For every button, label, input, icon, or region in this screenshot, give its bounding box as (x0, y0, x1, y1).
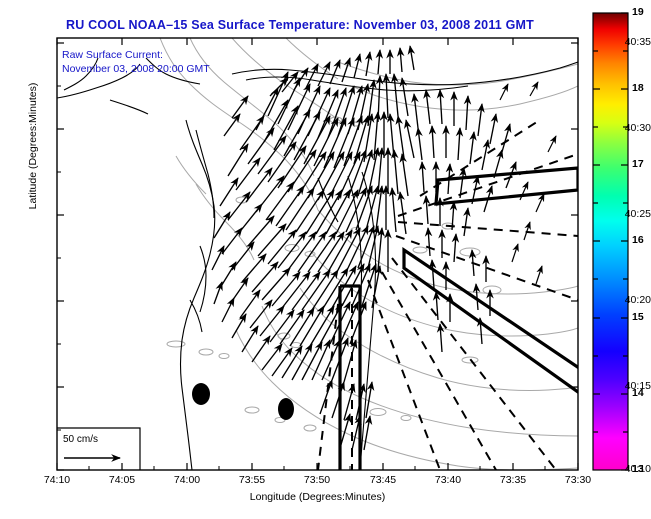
colorbar-tick-label-5: 14 (632, 387, 644, 399)
sst-figure: RU COOL NOAA–15 Sea Surface Temperature:… (0, 0, 651, 519)
x-tick-label-5: 73:45 (351, 474, 415, 486)
y-tick-label-0: 40:35 (599, 36, 651, 48)
colorbar-tick-label-4: 15 (632, 311, 644, 323)
x-tick-label-6: 73:40 (416, 474, 480, 486)
colorbar-tick-label-6: 13 (632, 463, 644, 475)
colorbar-tick-label-2: 17 (632, 158, 644, 170)
x-tick-label-1: 74:05 (90, 474, 154, 486)
annotation-line-2: November 03, 2008 20:00 GMT (62, 62, 210, 76)
x-tick-label-8: 73:30 (546, 474, 610, 486)
station-marker-east[interactable] (278, 398, 294, 420)
x-tick-label-7: 73:35 (481, 474, 545, 486)
current-annotation: Raw Surface Current: November 03, 2008 2… (62, 48, 210, 76)
x-tick-label-3: 73:55 (220, 474, 284, 486)
scale-legend-label: 50 cm/s (63, 434, 98, 445)
y-tick-label-3: 40:20 (599, 294, 651, 306)
colorbar-tick-label-0: 19 (632, 6, 644, 18)
colorbar-tick-label-1: 18 (632, 82, 644, 94)
y-tick-label-1: 40:30 (599, 122, 651, 134)
y-tick-label-2: 40:25 (599, 208, 651, 220)
station-marker-west[interactable] (192, 383, 210, 405)
x-tick-label-2: 74:00 (155, 474, 219, 486)
y-axis-title: Latitude (Degrees:Minutes) (27, 61, 39, 231)
x-tick-label-4: 73:50 (285, 474, 349, 486)
x-tick-label-0: 74:10 (25, 474, 89, 486)
x-axis-title: Longitude (Degrees:Minutes) (57, 491, 578, 503)
annotation-line-1: Raw Surface Current: (62, 48, 210, 62)
plot-background (57, 38, 578, 470)
colorbar-tick-label-3: 16 (632, 234, 644, 246)
